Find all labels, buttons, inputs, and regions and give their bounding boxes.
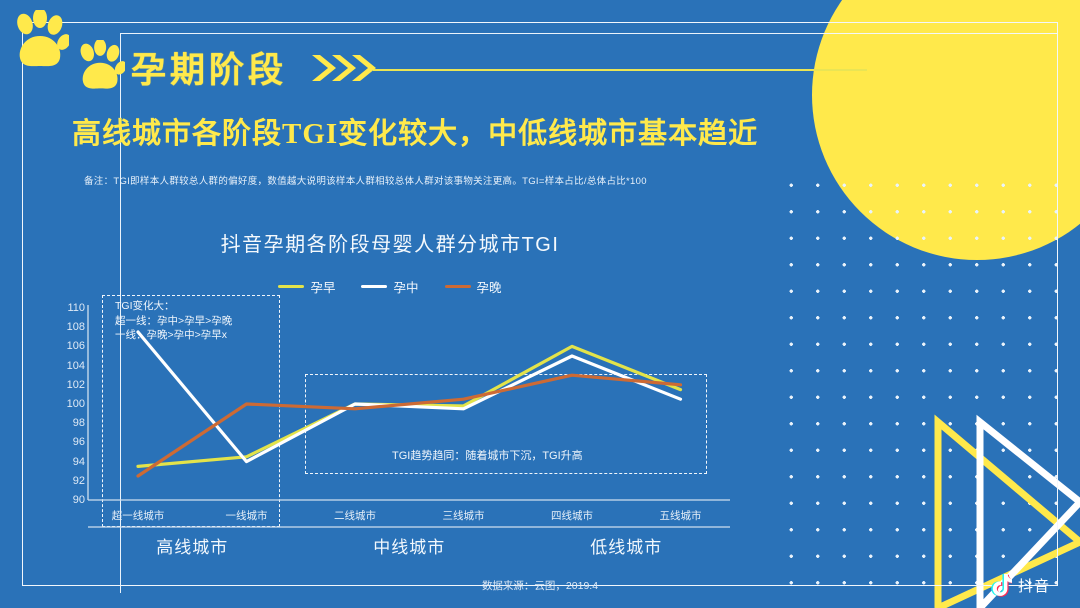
y-axis-tick: 108 — [55, 321, 85, 333]
legend-item-2: 孕晚 — [445, 277, 502, 296]
footnote-text: 备注：TGI即样本人群较总人群的偏好度，数值越大说明该样本人群相较总体人群对该事… — [84, 173, 647, 187]
annotation-line-0: TGI变化大： — [115, 299, 232, 314]
y-axis-tick: 106 — [55, 340, 85, 352]
legend-label-1: 孕中 — [393, 277, 418, 296]
section-title: 孕期阶段 — [131, 42, 287, 93]
y-axis-labels: 1101081061041021009896949290 — [55, 0, 85, 608]
legend-swatch-1 — [361, 285, 387, 288]
y-axis-tick: 100 — [55, 398, 85, 410]
x-axis-label-1: 一线城市 — [226, 508, 268, 523]
y-axis-tick: 110 — [55, 302, 85, 314]
legend-swatch-0 — [278, 285, 304, 288]
y-axis-tick: 98 — [55, 417, 85, 429]
x-axis-label-3: 三线城市 — [443, 508, 485, 523]
y-axis-tick: 90 — [55, 494, 85, 506]
legend-swatch-2 — [445, 285, 471, 288]
douyin-logo-text: 抖音 — [1018, 575, 1050, 596]
group-label-0: 高线城市 — [156, 533, 228, 558]
douyin-logo: 抖音 — [990, 573, 1050, 597]
x-axis-label-5: 五线城市 — [660, 508, 702, 523]
tiktok-note-icon — [990, 573, 1012, 597]
annotation-high-tier-text: TGI变化大： 超一线：孕中>孕早>孕晚 一线：孕晚>孕中>孕早x — [115, 299, 232, 343]
legend-label-2: 孕晚 — [477, 277, 502, 296]
x-axis-label-0: 超一线城市 — [112, 508, 165, 523]
group-label-2: 低线城市 — [590, 533, 662, 558]
annotation-line-1: 超一线：孕中>孕早>孕晚 — [115, 314, 232, 329]
series-line-孕中 — [138, 332, 681, 462]
y-axis-tick: 92 — [55, 475, 85, 487]
data-source-text: 数据来源：云图，2019.4 — [0, 578, 1080, 593]
group-label-1: 中线城市 — [373, 533, 445, 558]
legend-item-0: 孕早 — [278, 277, 335, 296]
y-axis-tick: 96 — [55, 436, 85, 448]
y-axis-tick: 104 — [55, 360, 85, 372]
annotation-trend-text: TGI趋势趋同：随着城市下沉，TGI升高 — [392, 447, 583, 463]
x-axis-label-2: 二线城市 — [334, 508, 376, 523]
annotation-line-2: 一线：孕晚>孕中>孕早x — [115, 328, 232, 343]
legend-label-0: 孕早 — [310, 277, 335, 296]
chart-title: 抖音孕期各阶段母婴人群分城市TGI — [0, 228, 780, 257]
triple-chevron-right-icon — [310, 52, 376, 84]
chart-legend: 孕早 孕中 孕晚 — [0, 277, 780, 296]
y-axis-tick: 102 — [55, 379, 85, 391]
x-axis-label-4: 四线城市 — [551, 508, 593, 523]
legend-item-1: 孕中 — [361, 277, 418, 296]
page-title: 高线城市各阶段TGI变化较大，中低线城市基本趋近 — [72, 110, 758, 152]
y-axis-tick: 94 — [55, 456, 85, 468]
